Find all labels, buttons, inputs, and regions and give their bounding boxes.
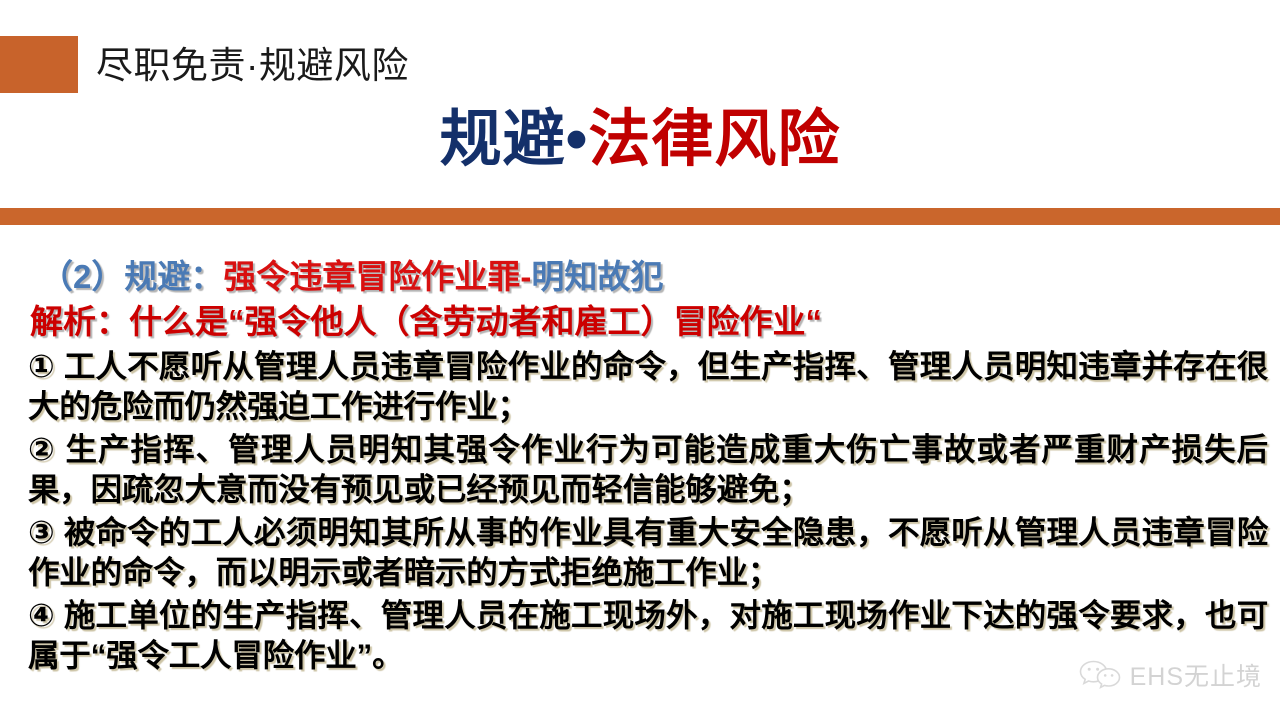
section-heading-blue-suffix: 明知故犯: [531, 258, 663, 295]
content-paragraph-4: ④ 施工单位的生产指挥、管理人员在施工现场外，对施工现场作业下达的强令要求，也可…: [28, 595, 1268, 675]
content-paragraph-1: ① 工人不愿听从管理人员违章冒险作业的命令，但生产指挥、管理人员明知违章并存在很…: [28, 346, 1268, 426]
content-body: （2）规避：强令违章冒险作业罪-明知故犯 解析：什么是“强令他人（含劳动者和雇工…: [0, 255, 1280, 720]
section-heading-red-middle: 强令违章冒险作业罪-: [223, 258, 531, 295]
section-heading-secondary: 解析：什么是“强令他人（含劳动者和雇工）冒险作业“: [30, 300, 1280, 343]
section-heading-primary: （2）规避：强令违章冒险作业罪-明知故犯: [40, 255, 1280, 298]
page-title: 规避•法律风险: [0, 100, 1280, 180]
header-accent-block: [0, 36, 78, 93]
content-paragraph-3: ③ 被命令的工人必须明知其所从事的作业具有重大安全隐患，不愿听从管理人员违章冒险…: [28, 512, 1268, 592]
page-title-blue-part: 规避•: [440, 105, 589, 174]
slide-root: 尽职免责·规避风险 规避•法律风险 （2）规避：强令违章冒险作业罪-明知故犯 解…: [0, 0, 1280, 720]
divider-bar: [0, 208, 1280, 225]
content-paragraph-2: ② 生产指挥、管理人员明知其强令作业行为可能造成重大伤亡事故或者严重财产损失后果…: [28, 429, 1268, 509]
section-heading-blue-prefix: （2）规避：: [40, 258, 223, 295]
header-title: 尽职免责·规避风险: [96, 40, 409, 92]
page-title-red-part: 法律风险: [588, 105, 840, 174]
